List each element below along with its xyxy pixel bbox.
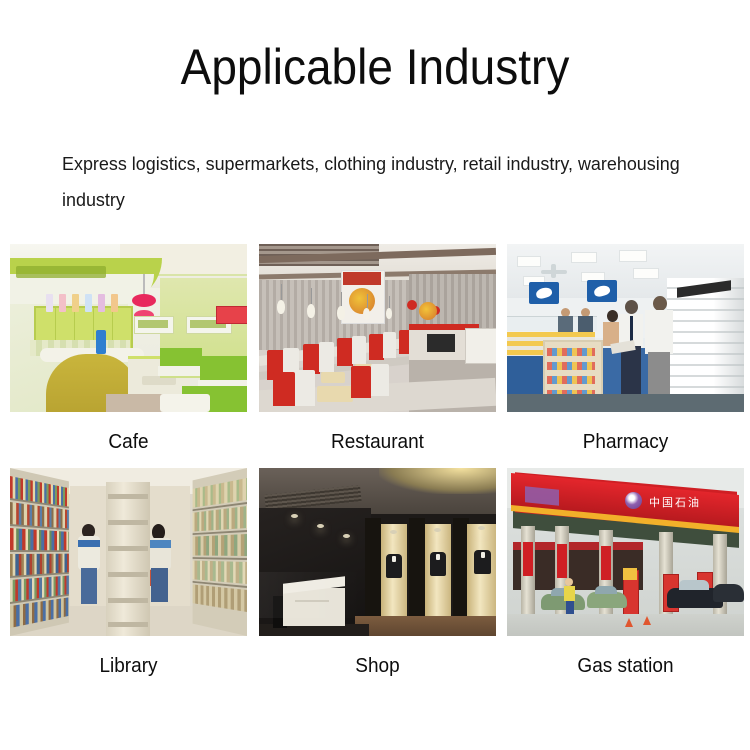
- cafe-caption: Cafe: [16, 429, 241, 455]
- gallery-item-library[interactable]: Library: [10, 468, 247, 679]
- cafe-image: [10, 244, 247, 412]
- pharmacy-caption: Pharmacy: [513, 429, 738, 455]
- restaurant-caption: Restaurant: [265, 429, 490, 455]
- shop-image: [259, 468, 496, 636]
- shop-caption: Shop: [265, 653, 490, 679]
- gas-station-brand-text: 中国石油: [649, 496, 701, 509]
- page-subtitle: Express logistics, supermarkets, clothin…: [62, 146, 702, 218]
- gallery-item-pharmacy[interactable]: Pharmacy: [507, 244, 744, 455]
- library-caption: Library: [16, 653, 241, 679]
- gas-station-caption: Gas station: [513, 653, 738, 679]
- gallery-row: Cafe: [0, 244, 750, 468]
- library-image: [10, 468, 247, 636]
- pharmacy-image: [507, 244, 744, 412]
- page-title: Applicable Industry: [30, 38, 720, 96]
- gallery-item-gas-station[interactable]: 中国石油: [507, 468, 744, 679]
- gas-station-image: 中国石油: [507, 468, 744, 636]
- industry-gallery: Cafe: [0, 244, 750, 692]
- applicable-industry-page: Applicable Industry Express logistics, s…: [0, 0, 750, 750]
- gallery-item-shop[interactable]: Shop: [259, 468, 496, 679]
- restaurant-image: [259, 244, 496, 412]
- gallery-item-restaurant[interactable]: Restaurant: [259, 244, 496, 455]
- gallery-item-cafe[interactable]: Cafe: [10, 244, 247, 455]
- gallery-row: Library: [0, 468, 750, 692]
